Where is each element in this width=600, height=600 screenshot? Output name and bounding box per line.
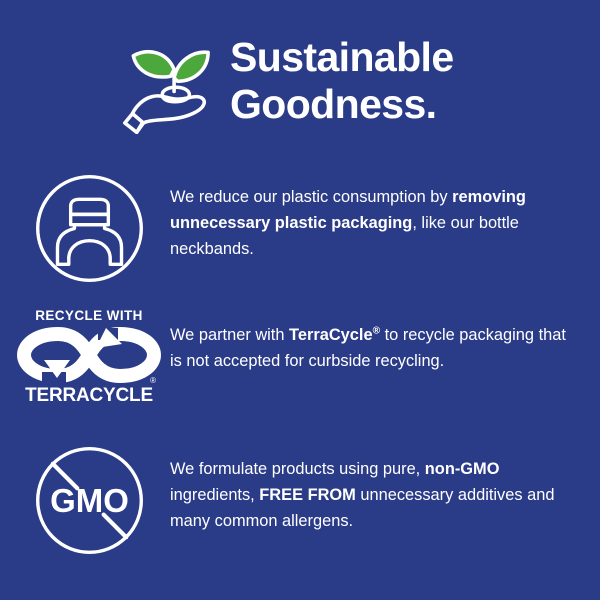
page-title-line-1: Sustainable — [230, 34, 454, 81]
feature-paragraph: We formulate products using pure, non-GM… — [170, 456, 578, 534]
poster-header: Sustainable Goodness. — [0, 28, 600, 134]
terracycle-logo: RECYCLE WITH ® — [14, 308, 164, 406]
no-gmo-icon: GMO — [33, 444, 146, 557]
feature-icon-cell: RECYCLE WITH ® — [0, 308, 170, 406]
page-title: Sustainable Goodness. — [230, 34, 454, 128]
feature-row-terracycle: RECYCLE WITH ® — [0, 308, 600, 406]
emphasis-text: removing unnecessary plastic packaging — [170, 188, 526, 232]
feature-text-gmo: We formulate products using pure, non-GM… — [170, 444, 600, 534]
feature-row-plastic: We reduce our plastic consumption by rem… — [0, 172, 600, 285]
emphasis-text: FREE FROM — [259, 486, 356, 504]
feature-paragraph: We partner with TerraCycle® to recycle p… — [170, 322, 578, 374]
feature-icon-cell — [0, 172, 170, 285]
infinity-arrows-icon: ® — [14, 326, 164, 384]
registered-trademark-mark: ® — [150, 377, 156, 385]
page-title-line-2: Goodness. — [230, 81, 454, 128]
terracycle-bottom-label: TERRACYCLE — [14, 385, 164, 406]
feature-row-gmo: GMO We formulate products using pure, no… — [0, 444, 600, 557]
emphasis-text: TerraCycle — [289, 326, 373, 344]
feature-text-terracycle: We partner with TerraCycle® to recycle p… — [170, 308, 600, 374]
plastic-bottle-in-circle-icon — [33, 172, 146, 285]
sustainability-poster: Sustainable Goodness. We reduce our plas… — [0, 0, 600, 600]
registered-trademark-superscript: ® — [373, 326, 380, 337]
emphasis-text: ® — [373, 326, 380, 344]
hand-holding-sprout-icon — [118, 32, 220, 134]
feature-text-plastic: We reduce our plastic consumption by rem… — [170, 172, 600, 262]
feature-paragraph: We reduce our plastic consumption by rem… — [170, 184, 578, 262]
no-gmo-icon-label: GMO — [50, 482, 129, 519]
emphasis-text: non-GMO — [425, 460, 500, 478]
terracycle-top-label: RECYCLE WITH — [14, 308, 164, 323]
feature-icon-cell: GMO — [0, 444, 170, 557]
